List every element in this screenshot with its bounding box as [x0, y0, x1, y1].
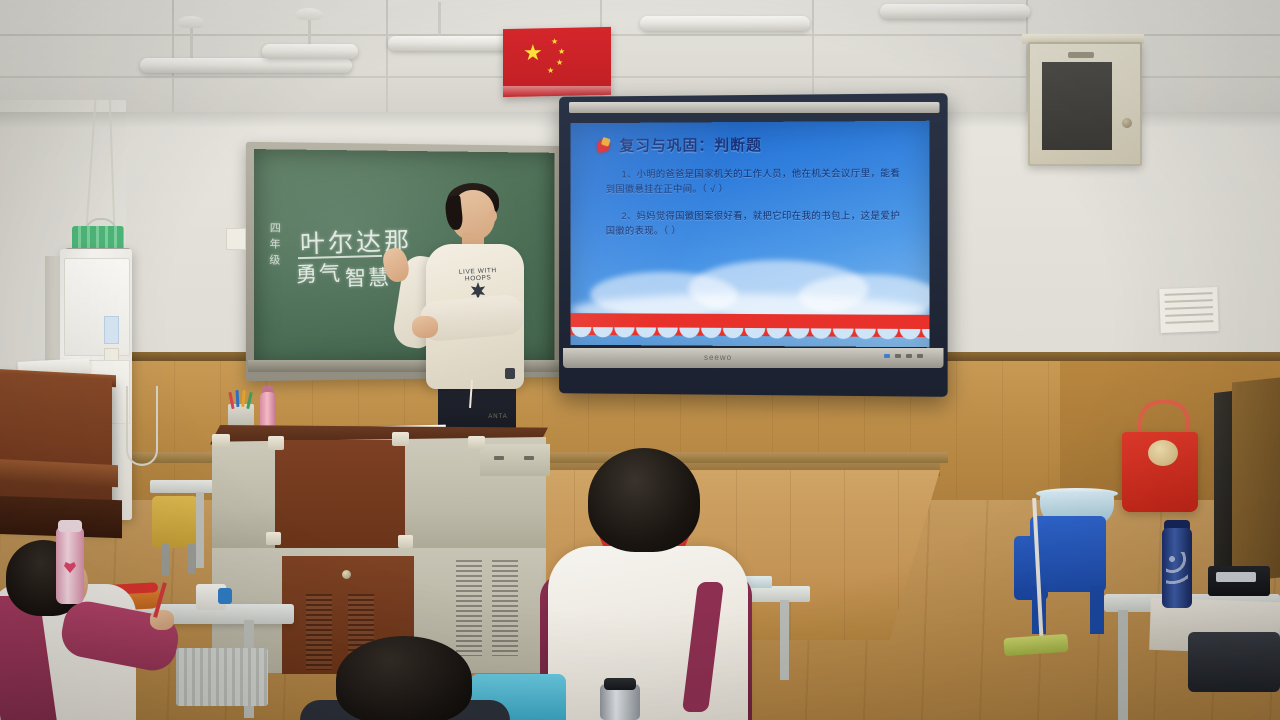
- air-conditioner-panel: [64, 258, 130, 356]
- sweatshirt-hem-tag: [505, 368, 515, 379]
- smartboard-indicator-lights: [884, 354, 923, 358]
- slide-question-1: 1、小明的爸爸是国家机关的工作人员，他在机关会议厅里，能看到国徽悬挂在正中间。（…: [606, 165, 905, 196]
- light-mount: [178, 16, 204, 28]
- podium-vent: [492, 560, 518, 656]
- light-rod: [438, 2, 441, 36]
- dark-chair: [1188, 632, 1280, 692]
- sharpener-handle[interactable]: [218, 588, 232, 604]
- desk-leg: [196, 492, 204, 568]
- smartboard-bottom-bezel: [563, 348, 944, 368]
- desk-basket: [176, 648, 268, 706]
- trousers-brand-text: ANTA: [478, 414, 518, 420]
- podium-front-panel: [275, 440, 405, 552]
- student-head: [588, 448, 700, 552]
- ceiling-light-3: [388, 36, 518, 51]
- slide-title: 复习与巩固：判断题: [620, 134, 762, 156]
- classroom-photo: ★ ★ ★ ★ ★ 叶尔达那 勇气 智慧 四年级 复习与巩固：判断题 1、小明的…: [0, 0, 1280, 720]
- student-head: [336, 636, 472, 720]
- podium-corner-guard: [398, 535, 413, 548]
- podium-corner-guard: [266, 532, 281, 545]
- flag-star-small: ★: [558, 48, 565, 56]
- energy-label: [104, 316, 119, 344]
- podium-vent: [306, 594, 332, 670]
- cabinet-knob[interactable]: [1122, 118, 1132, 128]
- wooden-chair: [152, 496, 198, 548]
- slide-header: 复习与巩固：判断题: [596, 134, 762, 156]
- bag-contents: [1148, 440, 1178, 466]
- teacher-right-hand: [412, 316, 438, 338]
- podium-vent: [456, 560, 482, 656]
- smartboard-screen[interactable]: 复习与巩固：判断题 1、小明的爸爸是国家机关的工作人员，他在机关会议厅里，能看到…: [571, 121, 930, 348]
- desk-leg: [780, 600, 789, 680]
- flag-star-small: ★: [547, 67, 554, 75]
- podium-corner-guard: [468, 436, 485, 449]
- desk-leg: [1118, 610, 1128, 720]
- thermos-cap: [58, 520, 82, 532]
- flag-star-small: ★: [551, 38, 558, 46]
- smartboard-top-rail: [569, 102, 940, 113]
- ceiling-light-1: [140, 58, 352, 73]
- leaning-board: [1232, 377, 1280, 582]
- leaning-board-dark: [1214, 391, 1232, 583]
- wall-notice: [1159, 287, 1219, 333]
- wall-switch[interactable]: [226, 228, 246, 250]
- blue-stool: [1030, 516, 1106, 592]
- chair-leg: [188, 544, 195, 574]
- ceiling-light-5: [880, 4, 1030, 19]
- chair-leg: [162, 544, 169, 576]
- thermos-pattern: [1166, 552, 1188, 588]
- student-uniform: [548, 546, 748, 720]
- thermos-lid: [604, 678, 636, 690]
- podium-drawer[interactable]: [480, 444, 550, 476]
- cabinet-hinge: [1068, 52, 1094, 58]
- flag-star-small: ★: [556, 59, 563, 67]
- pouch-label: [1216, 572, 1256, 582]
- teacher-ear: [489, 210, 497, 222]
- blackboard-word-left: 勇气: [295, 257, 342, 289]
- podium-corner-guard: [268, 436, 284, 450]
- ceiling-light-2: [262, 44, 358, 59]
- ceiling-light-4: [640, 16, 810, 31]
- cabinet-panel-window: [1042, 62, 1112, 150]
- smartboard-brand-logo: seewo: [688, 353, 748, 362]
- flag-star-large: ★: [523, 42, 543, 64]
- podium-lock[interactable]: [342, 570, 351, 579]
- cable-loop: [126, 386, 158, 466]
- slide-question-2: 2、妈妈觉得国徽图案很好看，就把它印在我的书包上，这是爱护国徽的表现。（ ）: [606, 208, 905, 239]
- podium-corner-guard: [392, 432, 409, 446]
- podium-corner-guard: [212, 434, 230, 447]
- slide-wave-scallop: [571, 327, 930, 347]
- light-mount: [296, 8, 322, 20]
- blackboard-side-note: 四年级: [266, 222, 283, 270]
- stool-leg: [1090, 586, 1104, 634]
- national-emblem-icon: [596, 137, 613, 153]
